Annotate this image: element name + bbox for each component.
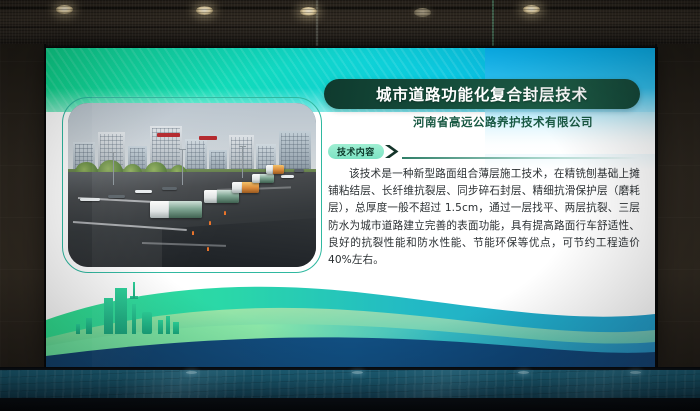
floor-band	[0, 398, 700, 411]
wall-right	[655, 44, 700, 374]
photo-road	[68, 172, 316, 267]
company-name: 河南省高远公路养护技术有限公司	[324, 114, 640, 130]
photo-frame	[62, 97, 322, 273]
ceiling-downlight	[523, 5, 540, 14]
stage-floor-light	[352, 371, 363, 374]
slide-title: 城市道路功能化复合封层技术	[376, 83, 588, 105]
paving-truck	[232, 182, 259, 193]
slide-title-bar: 城市道路功能化复合封层技术	[324, 79, 640, 109]
ceiling-downlight	[56, 5, 73, 14]
section-tag-label: 技术内容	[337, 145, 375, 158]
chevron-right-icon	[384, 144, 400, 159]
wall-left	[0, 44, 46, 374]
ceiling-downlight	[300, 7, 317, 16]
section-header: 技术内容	[328, 144, 638, 160]
section-rule	[402, 157, 638, 159]
ceiling	[0, 0, 700, 46]
stage-floor-light	[518, 371, 529, 374]
stage-floor-light	[630, 371, 641, 374]
conference-room-scene: 城市道路功能化复合封层技术 河南省高远公路养护技术有限公司 技术内容 该技术是一…	[0, 0, 700, 411]
paving-truck	[266, 165, 283, 173]
ceiling-downlight	[196, 6, 213, 15]
stage-floor-light	[186, 371, 197, 374]
presentation-screen: 城市道路功能化复合封层技术 河南省高远公路养护技术有限公司 技术内容 该技术是一…	[46, 48, 655, 368]
construction-site-photo	[68, 103, 316, 267]
paving-truck	[150, 201, 202, 217]
slide-company-line: 河南省高远公路养护技术有限公司	[324, 114, 640, 130]
section-tag: 技术内容	[328, 144, 384, 159]
slide-wave-decoration	[46, 276, 655, 368]
slide-body-text: 该技术是一种新型路面组合薄层施工技术，在精铣刨基础上摊铺粘结层、长纤维抗裂层、同…	[328, 166, 640, 269]
ceiling-downlight	[414, 8, 431, 17]
stage-floor	[0, 370, 700, 400]
paving-truck	[252, 174, 274, 184]
